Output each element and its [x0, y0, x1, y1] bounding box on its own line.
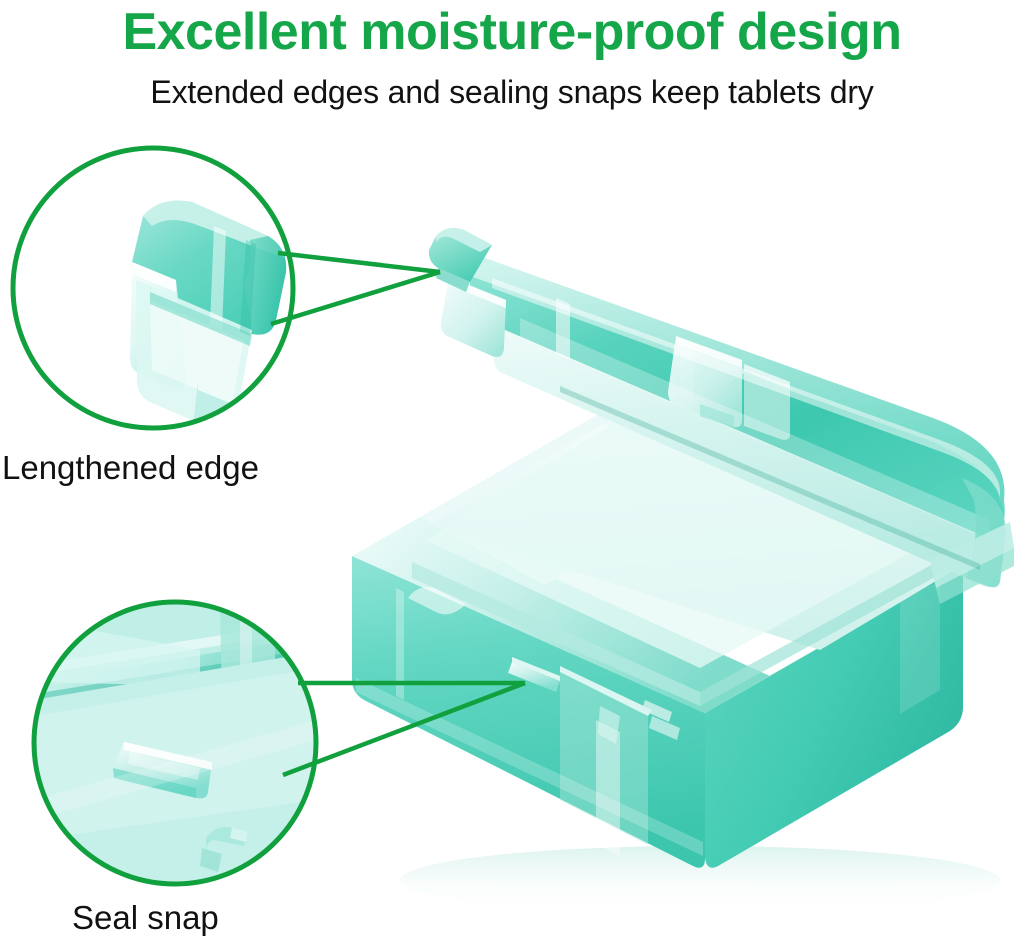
callout-label-seal-snap: Seal snap — [72, 898, 219, 938]
callout-lengthened-edge — [13, 148, 440, 463]
page-title: Excellent moisture-proof design — [0, 2, 1024, 62]
callout-lengthened-edge-leader — [271, 253, 440, 324]
infographic-canvas: Excellent moisture-proof design Extended… — [0, 0, 1024, 950]
page-subtitle: Extended edges and sealing snaps keep ta… — [0, 72, 1024, 112]
pill-box-graphic — [352, 228, 1014, 868]
callout-lengthened-edge-content — [13, 148, 295, 463]
callout-label-lengthened-edge: Lengthened edge — [2, 448, 259, 488]
